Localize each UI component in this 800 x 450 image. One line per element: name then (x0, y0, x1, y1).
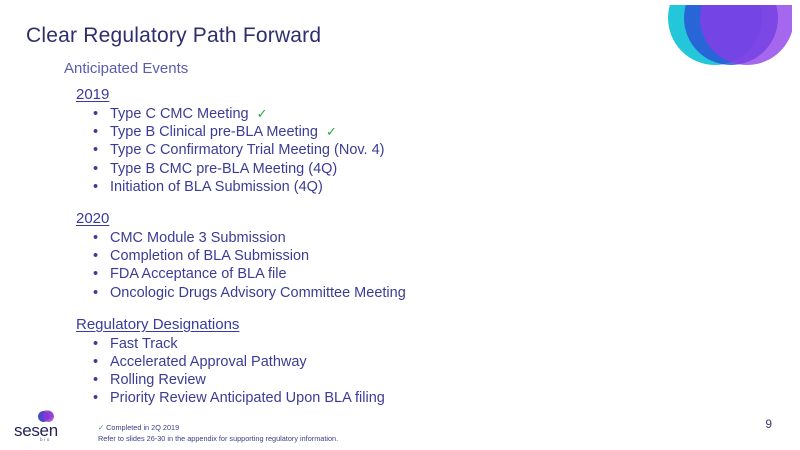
section-2020: 2020 • CMC Module 3 Submission • Complet… (76, 210, 696, 302)
list-item-label: Oncologic Drugs Advisory Committee Meeti… (110, 285, 406, 301)
list-item: • Type B Clinical pre-BLA Meeting ✓ (76, 123, 696, 141)
check-icon: ✓ (326, 124, 337, 139)
page-number: 9 (765, 417, 772, 431)
footnote-completed-text: Completed in 2Q 2019 (106, 423, 179, 432)
bullet-dot-icon: • (93, 371, 98, 389)
list-item: • Accelerated Approval Pathway (76, 353, 696, 371)
content-area: 2019 • Type C CMC Meeting ✓ • Type B Cli… (76, 86, 696, 408)
bullet-dot-icon: • (93, 160, 98, 178)
list-item-label: Type B CMC pre-BLA Meeting (4Q) (110, 161, 337, 177)
bullet-dot-icon: • (93, 265, 98, 283)
list-item-label: Priority Review Anticipated Upon BLA fil… (110, 390, 385, 406)
venn-circles-graphic (668, 5, 792, 65)
list-item: • Rolling Review (76, 371, 696, 389)
bullet-list: • Type C CMC Meeting ✓ • Type B Clinical… (76, 105, 696, 196)
logo-lobe-overlap-icon (41, 410, 53, 420)
list-item-label: Fast Track (110, 336, 178, 352)
list-item: • Type C Confirmatory Trial Meeting (Nov… (76, 141, 696, 159)
bullet-list: • CMC Module 3 Submission • Completion o… (76, 229, 696, 302)
logo-wordmark: sesen (14, 421, 58, 441)
section-heading: Regulatory Designations (76, 316, 239, 333)
footnotes: ✓Completed in 2Q 2019 Refer to slides 26… (98, 423, 338, 444)
check-icon: ✓ (257, 106, 268, 121)
slide-title: Clear Regulatory Path Forward (26, 24, 321, 48)
bullet-dot-icon: • (93, 123, 98, 141)
list-item-label: CMC Module 3 Submission (110, 230, 286, 246)
list-item-label: Initiation of BLA Submission (4Q) (110, 179, 323, 195)
bullet-dot-icon: • (93, 105, 98, 123)
bullet-dot-icon: • (93, 247, 98, 265)
section-regulatory-designations: Regulatory Designations • Fast Track • A… (76, 316, 696, 408)
bullet-dot-icon: • (93, 353, 98, 371)
bullet-dot-icon: • (93, 284, 98, 302)
section-heading: 2020 (76, 210, 109, 227)
bullet-dot-icon: • (93, 389, 98, 407)
list-item-label: Type B Clinical pre-BLA Meeting (110, 124, 318, 140)
list-item: • Type C CMC Meeting ✓ (76, 105, 696, 123)
list-item-label: FDA Acceptance of BLA file (110, 266, 287, 282)
slide-subtitle: Anticipated Events (64, 60, 188, 77)
bullet-list: • Fast Track • Accelerated Approval Path… (76, 335, 696, 408)
list-item-label: Completion of BLA Submission (110, 248, 309, 264)
list-item: • Completion of BLA Submission (76, 247, 696, 265)
footnote-line-1: ✓Completed in 2Q 2019 (98, 423, 338, 434)
list-item-label: Rolling Review (110, 372, 206, 388)
list-item: • CMC Module 3 Submission (76, 229, 696, 247)
list-item-label: Type C CMC Meeting (110, 106, 249, 122)
list-item: • FDA Acceptance of BLA file (76, 265, 696, 283)
list-item: • Fast Track (76, 335, 696, 353)
bullet-dot-icon: • (93, 229, 98, 247)
check-icon: ✓ (98, 423, 104, 432)
section-heading: 2019 (76, 86, 109, 103)
bullet-dot-icon: • (93, 178, 98, 196)
list-item: • Type B CMC pre-BLA Meeting (4Q) (76, 160, 696, 178)
list-item: • Initiation of BLA Submission (4Q) (76, 178, 696, 196)
section-2019: 2019 • Type C CMC Meeting ✓ • Type B Cli… (76, 86, 696, 196)
sesen-bio-logo: sesen bio (14, 410, 86, 444)
bullet-dot-icon: • (93, 335, 98, 353)
list-item-label: Type C Confirmatory Trial Meeting (Nov. … (110, 142, 385, 158)
logo-subtext: bio (40, 437, 51, 442)
bullet-dot-icon: • (93, 141, 98, 159)
footnote-line-2: Refer to slides 26-30 in the appendix fo… (98, 434, 338, 445)
slide: Clear Regulatory Path Forward Anticipate… (0, 0, 800, 450)
list-item-label: Accelerated Approval Pathway (110, 354, 307, 370)
list-item: • Oncologic Drugs Advisory Committee Mee… (76, 284, 696, 302)
list-item: • Priority Review Anticipated Upon BLA f… (76, 389, 696, 407)
